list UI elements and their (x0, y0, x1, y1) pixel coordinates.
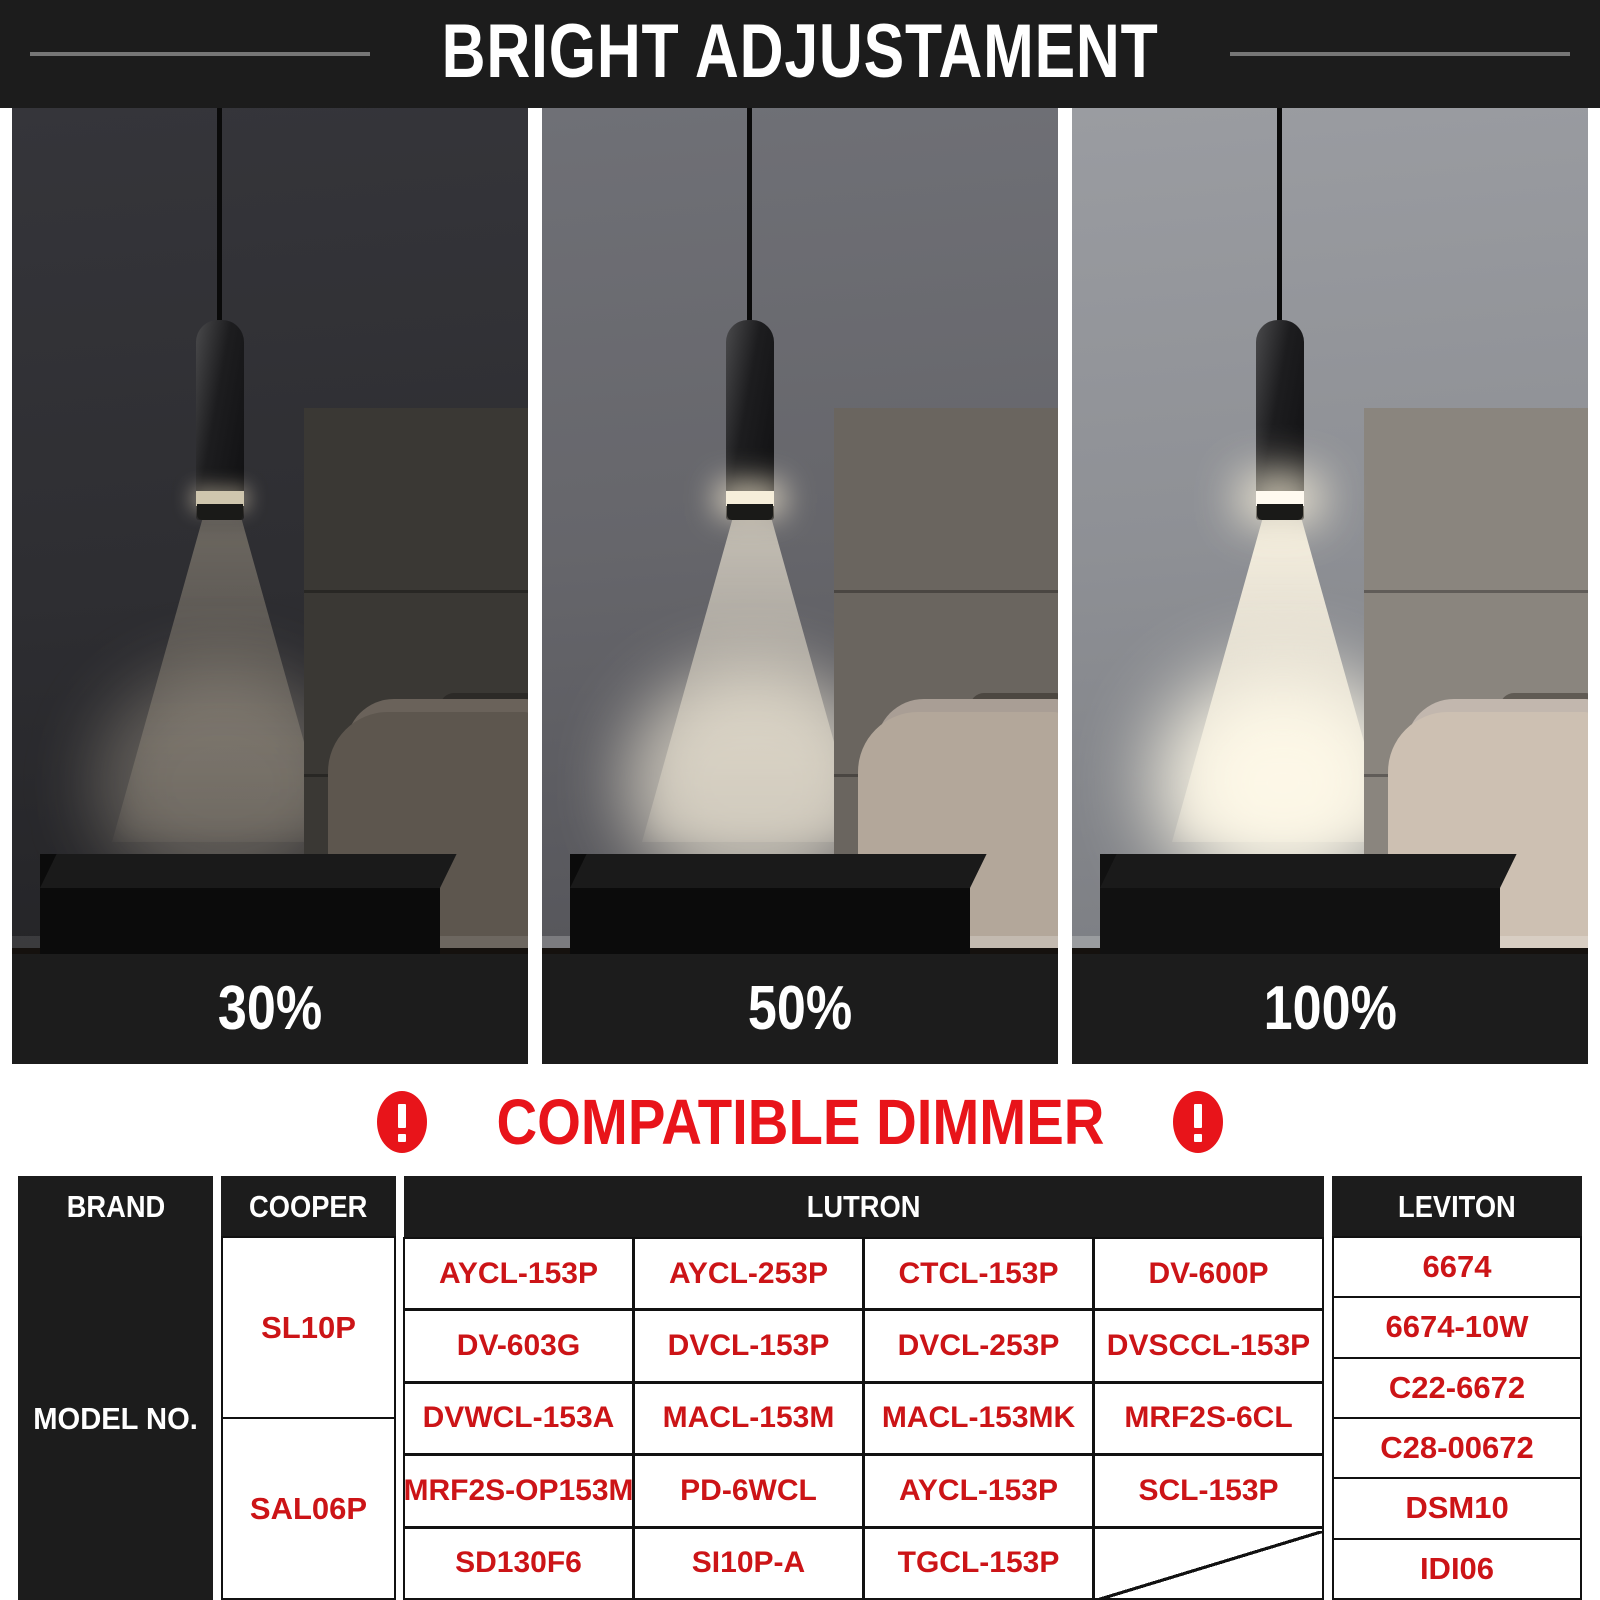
page-header: BRIGHT ADJUSTAMENT (0, 0, 1600, 108)
lamp-base (1257, 504, 1303, 520)
lamp-cord (1277, 108, 1282, 326)
brightness-caption-100: 100% (1072, 954, 1588, 1064)
brightness-level-label: 30% (218, 978, 322, 1040)
pendant-lamp (1256, 320, 1304, 520)
table-cell-lutron: SCL-153P (1093, 1454, 1324, 1527)
table-cell-lutron: CTCL-153P (863, 1237, 1094, 1310)
table-cell-lutron: SD130F6 (403, 1527, 634, 1600)
table-cell-lutron: DVSCCL-153P (1093, 1309, 1324, 1382)
pendant-lamp (196, 320, 244, 520)
table-cell-cooper: SL10P (221, 1236, 396, 1419)
bedroom-scene-image (542, 108, 1058, 1064)
row-label-model-no: MODEL NO. (18, 1238, 213, 1600)
lutron-model-grid: AYCL-153P AYCL-253P CTCL-153P DV-600P DV… (404, 1238, 1324, 1600)
column-header-cooper: COOPER (221, 1176, 396, 1238)
brightness-level-label: 50% (748, 978, 852, 1040)
warning-exclamation-icon (377, 1091, 427, 1153)
table-cell-lutron: DVWCL-153A (403, 1382, 634, 1455)
table-cell-leviton: C28-00672 (1332, 1417, 1582, 1479)
table-cell-lutron: MRF2S-OP153M (403, 1454, 634, 1527)
table-column-lutron: LUTRON AYCL-153P AYCL-253P CTCL-153P DV-… (404, 1176, 1324, 1600)
table-cell-cooper: SAL06P (221, 1417, 396, 1600)
lamp-cord (217, 108, 222, 326)
column-header-lutron: LUTRON (404, 1176, 1324, 1238)
table-cell-leviton: IDI06 (1332, 1538, 1582, 1600)
brightness-panel-100: 100% (1072, 108, 1588, 1064)
table-cell-lutron: DVCL-153P (633, 1309, 864, 1382)
table-cell-leviton: DSM10 (1332, 1477, 1582, 1539)
warning-exclamation-icon (1173, 1091, 1223, 1153)
table-cell-leviton: 6674 (1332, 1236, 1582, 1298)
column-header-brand: BRAND (18, 1176, 213, 1238)
compatible-dimmer-banner: COMPATIBLE DIMMER (0, 1068, 1600, 1176)
table-cell-lutron: PD-6WCL (633, 1454, 864, 1527)
pendant-lamp (726, 320, 774, 520)
brightness-panel-50: 50% (542, 108, 1058, 1064)
table-cell-lutron: AYCL-253P (633, 1237, 864, 1310)
lamp-base (727, 504, 773, 520)
table-column-cooper: COOPER SL10P SAL06P (221, 1176, 396, 1600)
compatible-dimmer-title: COMPATIBLE DIMMER (496, 1090, 1104, 1154)
table-cell-lutron: SI10P-A (633, 1527, 864, 1600)
page-title: BRIGHT ADJUSTAMENT (442, 14, 1159, 94)
brightness-comparison-strip: 30% 50% (0, 108, 1600, 1068)
brightness-caption-30: 30% (12, 954, 528, 1064)
nightstand-top (40, 854, 457, 888)
table-cell-lutron: DVCL-253P (863, 1309, 1094, 1382)
leviton-model-list: 6674 6674-10W C22-6672 C28-00672 DSM10 I… (1332, 1238, 1582, 1600)
bedroom-scene-image (1072, 108, 1588, 1064)
table-cell-lutron: DV-603G (403, 1309, 634, 1382)
table-cell-leviton: C22-6672 (1332, 1357, 1582, 1419)
table-cell-lutron: MACL-153M (633, 1382, 864, 1455)
brightness-level-label: 100% (1263, 978, 1396, 1040)
table-cell-lutron: AYCL-153P (863, 1454, 1094, 1527)
table-cell-lutron-empty (1093, 1527, 1324, 1600)
table-cell-lutron: MACL-153MK (863, 1382, 1094, 1455)
column-header-leviton: LEVITON (1332, 1176, 1582, 1238)
table-cell-lutron: AYCL-153P (403, 1237, 634, 1310)
nightstand-top (570, 854, 987, 888)
table-cell-lutron: DV-600P (1093, 1237, 1324, 1310)
lamp-cord (747, 108, 752, 326)
nightstand-top (1100, 854, 1517, 888)
compatible-dimmer-table: BRAND MODEL NO. COOPER SL10P SAL06P LUTR… (0, 1176, 1600, 1600)
brightness-panel-30: 30% (12, 108, 528, 1064)
header-rule-left (30, 52, 370, 56)
table-cell-lutron: MRF2S-6CL (1093, 1382, 1324, 1455)
brightness-caption-50: 50% (542, 954, 1058, 1064)
table-cell-leviton: 6674-10W (1332, 1296, 1582, 1358)
table-column-leviton: LEVITON 6674 6674-10W C22-6672 C28-00672… (1332, 1176, 1582, 1600)
lamp-base (197, 504, 243, 520)
header-rule-right (1230, 52, 1570, 56)
bedroom-scene-image (12, 108, 528, 1064)
table-cell-lutron: TGCL-153P (863, 1527, 1094, 1600)
table-column-brand: BRAND MODEL NO. (18, 1176, 213, 1600)
